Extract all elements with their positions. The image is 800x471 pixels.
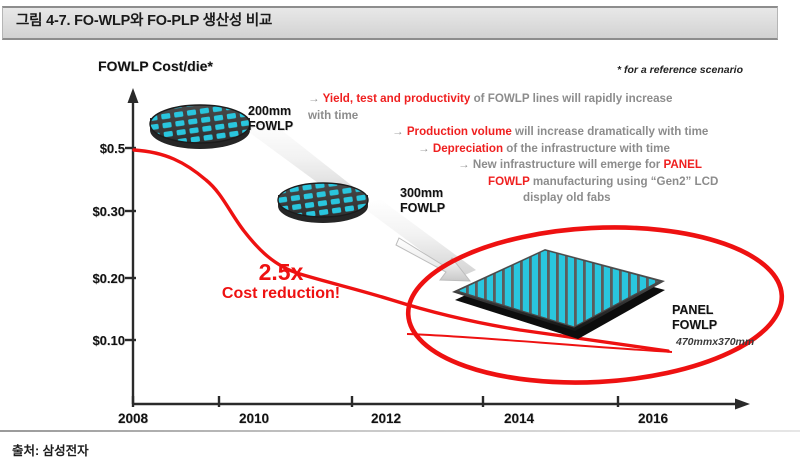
y-tick-3: $0.10 [55, 333, 125, 348]
arrow-icon-4: → [458, 158, 470, 171]
panel-label-line2: FOWLP [672, 318, 717, 333]
bullet-0-red: Yield, test and productivity [323, 92, 471, 105]
arrow-icon-2: → [392, 125, 404, 138]
reduction-factor: 2.5x [196, 261, 366, 283]
bullet-6-gray: display old fabs [523, 191, 611, 204]
bullet-notes-block: → Yield, test and productivity of FOWLP … [308, 91, 778, 207]
bullet-0-gray: of FOWLP lines will rapidly increase [470, 92, 672, 105]
bullet-line-5: FOWLP manufacturing using “Gen2” LCD [308, 174, 778, 191]
reference-scenario-note: * for a reference scenario [617, 64, 743, 76]
figure-root: 그림 4-7. FO-WLP와 FO-PLP 생산성 비교 [0, 0, 800, 471]
x-tick-1: 2010 [219, 411, 289, 426]
bullet-1-gray: with time [308, 109, 358, 122]
panel-label-line1: PANEL [672, 303, 717, 318]
wafer-200mm-graphic [148, 104, 254, 149]
cost-reduction-callout: 2.5x Cost reduction! [196, 261, 366, 305]
x-tick-4: 2016 [618, 411, 688, 426]
bullet-line-2: → Production volume will increase dramat… [308, 124, 778, 141]
bullet-line-1: with time [308, 108, 778, 125]
y-tick-2: $0.20 [55, 271, 125, 286]
wafer-200mm-label-line2: FOWLP [248, 119, 293, 134]
bullet-2-red: Production volume [407, 125, 512, 138]
y-tick-1: $0.30 [55, 204, 125, 219]
wafer-200mm-label: 200mm FOWLP [248, 104, 293, 134]
x-tick-0: 2008 [98, 411, 168, 426]
y-axis-title: FOWLP Cost/die* [98, 58, 213, 75]
arrow-icon-3: → [418, 142, 430, 155]
bullet-3-red: Depreciation [433, 142, 503, 155]
x-tick-3: 2014 [484, 411, 554, 426]
source-text: 출처: 삼성전자 [12, 440, 89, 459]
bullet-5-red: FOWLP [488, 175, 530, 188]
bullet-3-gray: of the infrastructure with time [503, 142, 670, 155]
bullet-line-6: display old fabs [308, 190, 778, 207]
panel-fowlp-label: PANEL FOWLP [672, 303, 717, 333]
bullet-2-gray: will increase dramatically with time [512, 125, 709, 138]
y-axis-title-line1: FOWLP Cost/die* [98, 58, 213, 75]
bullet-4-gray: New infrastructure will emerge for [473, 158, 664, 171]
x-tick-2: 2012 [351, 411, 421, 426]
footer-divider [0, 430, 800, 432]
wafer-200mm-label-line1: 200mm [248, 104, 293, 119]
arrow-icon-0: → [308, 92, 320, 105]
bullet-line-3: → Depreciation of the infrastructure wit… [308, 141, 778, 158]
panel-fowlp-graphic [452, 249, 665, 339]
reduction-text: Cost reduction! [196, 283, 366, 305]
panel-leader-line [407, 334, 672, 352]
y-tick-0: $0.5 [55, 141, 125, 156]
bullet-5-gray: manufacturing using “Gen2” LCD [530, 175, 719, 188]
bullet-4-red-tail: PANEL [664, 158, 702, 171]
panel-dimension-label: 470mmx370mm [676, 336, 754, 348]
bullet-line-4: → New infrastructure will emerge for PAN… [308, 157, 778, 174]
bullet-line-0: → Yield, test and productivity of FOWLP … [308, 91, 778, 108]
